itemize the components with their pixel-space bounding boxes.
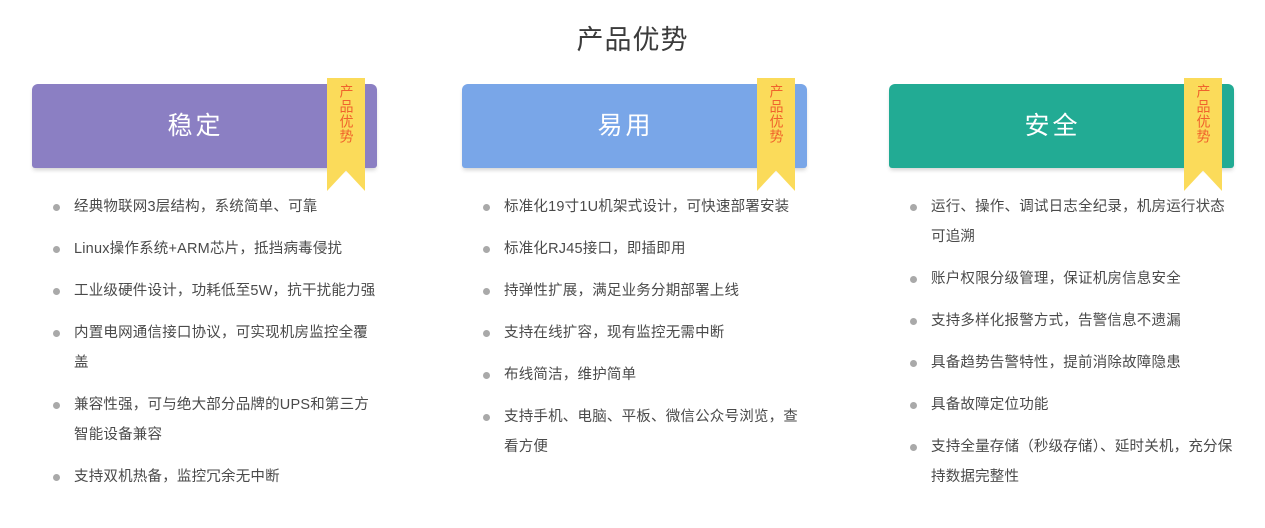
list-item: 内置电网通信接口协议，可实现机房监控全覆盖 bbox=[46, 318, 377, 378]
list-item: 运行、操作、调试日志全纪录，机房运行状态可追溯 bbox=[903, 192, 1234, 252]
feature-list-usability: 标准化19寸1U机架式设计，可快速部署安装 标准化RJ45接口，即插即用 持弹性… bbox=[462, 168, 807, 462]
list-item: 支持双机热备，监控冗余无中断 bbox=[46, 462, 377, 492]
ribbon-label: 产品优势 bbox=[336, 84, 357, 174]
card-header-stability: 稳定 产品优势 bbox=[32, 84, 377, 168]
advantage-card-usability: 易用 产品优势 标准化19寸1U机架式设计，可快速部署安装 标准化RJ45接口，… bbox=[462, 84, 807, 504]
list-item: 标准化19寸1U机架式设计，可快速部署安装 bbox=[476, 192, 807, 222]
list-item: 工业级硬件设计，功耗低至5W，抗干扰能力强 bbox=[46, 276, 377, 306]
list-item: 支持在线扩容，现有监控无需中断 bbox=[476, 318, 807, 348]
card-header-security: 安全 产品优势 bbox=[889, 84, 1234, 168]
card-header-inner: 易用 bbox=[462, 84, 807, 168]
list-item: 标准化RJ45接口，即插即用 bbox=[476, 234, 807, 264]
list-item: 具备故障定位功能 bbox=[903, 390, 1234, 420]
ribbon-label: 产品优势 bbox=[766, 84, 787, 174]
advantage-card-stability: 稳定 产品优势 经典物联网3层结构，系统简单、可靠 Linux操作系统+ARM芯… bbox=[32, 84, 377, 504]
card-title-stability: 稳定 bbox=[167, 111, 223, 141]
list-item: 具备趋势告警特性，提前消除故障隐患 bbox=[903, 348, 1234, 378]
page-title: 产品优势 bbox=[0, 22, 1265, 58]
list-item: 兼容性强，可与绝大部分品牌的UPS和第三方智能设备兼容 bbox=[46, 390, 377, 450]
card-title-usability: 易用 bbox=[597, 111, 653, 141]
card-title-security: 安全 bbox=[1024, 111, 1080, 141]
list-item: 支持多样化报警方式，告警信息不遗漏 bbox=[903, 306, 1234, 336]
list-item: Linux操作系统+ARM芯片，抵挡病毒侵扰 bbox=[46, 234, 377, 264]
list-item: 支持全量存储（秒级存储）、延时关机，充分保持数据完整性 bbox=[903, 432, 1234, 492]
product-advantages-page: 产品优势 稳定 产品优势 经典物联网3层结构，系统简单、可靠 Linux操作系统… bbox=[0, 0, 1265, 528]
list-item: 持弹性扩展，满足业务分期部署上线 bbox=[476, 276, 807, 306]
advantage-cards-row: 稳定 产品优势 经典物联网3层结构，系统简单、可靠 Linux操作系统+ARM芯… bbox=[0, 84, 1265, 504]
ribbon-label: 产品优势 bbox=[1193, 84, 1214, 174]
card-header-inner: 稳定 bbox=[32, 84, 377, 168]
list-item: 经典物联网3层结构，系统简单、可靠 bbox=[46, 192, 377, 222]
list-item: 布线简洁，维护简单 bbox=[476, 360, 807, 390]
feature-list-stability: 经典物联网3层结构，系统简单、可靠 Linux操作系统+ARM芯片，抵挡病毒侵扰… bbox=[32, 168, 377, 492]
card-header-usability: 易用 产品优势 bbox=[462, 84, 807, 168]
list-item: 支持手机、电脑、平板、微信公众号浏览，查看方便 bbox=[476, 402, 807, 462]
list-item: 账户权限分级管理，保证机房信息安全 bbox=[903, 264, 1234, 294]
feature-list-security: 运行、操作、调试日志全纪录，机房运行状态可追溯 账户权限分级管理，保证机房信息安… bbox=[889, 168, 1234, 492]
card-header-inner: 安全 bbox=[889, 84, 1234, 168]
advantage-card-security: 安全 产品优势 运行、操作、调试日志全纪录，机房运行状态可追溯 账户权限分级管理… bbox=[889, 84, 1234, 504]
